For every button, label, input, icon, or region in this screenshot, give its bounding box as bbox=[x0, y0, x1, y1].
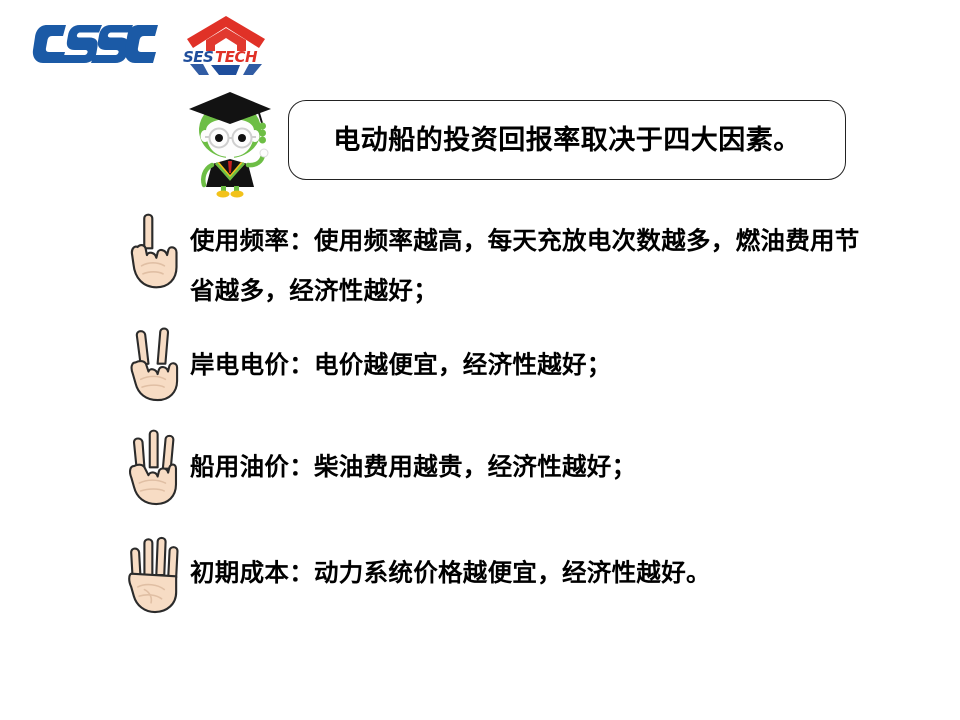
list-item: 岸电电价：电价越便宜，经济性越好； bbox=[124, 326, 612, 404]
title-callout-box: 电动船的投资回报率取决于四大因素。 bbox=[288, 100, 846, 180]
slide-canvas: SES TECH bbox=[0, 0, 960, 720]
list-item-text: 岸电电价：电价越便宜，经济性越好； bbox=[190, 326, 612, 390]
list-item: 船用油价：柴油费用越贵，经济性越好； bbox=[124, 428, 636, 508]
sestech-wordmark-tech: TECH bbox=[215, 48, 258, 66]
list-item-text: 使用频率：使用频率越高，每天充放电次数越多，燃油费用节省越多，经济性越好； bbox=[190, 208, 862, 316]
list-item-text: 初期成本：动力系统价格越便宜，经济性越好。 bbox=[190, 534, 711, 598]
sestech-logo: SES TECH bbox=[176, 14, 276, 76]
sestech-wordmark-ses: SES bbox=[183, 48, 213, 66]
page-title: 电动船的投资回报率取决于四大因素。 bbox=[333, 127, 801, 154]
list-item-text: 船用油价：柴油费用越贵，经济性越好； bbox=[190, 428, 636, 492]
hand-two-fingers-icon bbox=[124, 326, 186, 404]
hand-four-fingers-icon bbox=[124, 534, 186, 616]
cssc-logo bbox=[30, 22, 160, 66]
list-item: 初期成本：动力系统价格越便宜，经济性越好。 bbox=[124, 534, 711, 616]
hand-one-finger-icon bbox=[124, 208, 186, 294]
graduate-character-mascot bbox=[184, 80, 276, 198]
hand-three-fingers-icon bbox=[124, 428, 186, 508]
list-item: 使用频率：使用频率越高，每天充放电次数越多，燃油费用节省越多，经济性越好； bbox=[124, 208, 862, 316]
